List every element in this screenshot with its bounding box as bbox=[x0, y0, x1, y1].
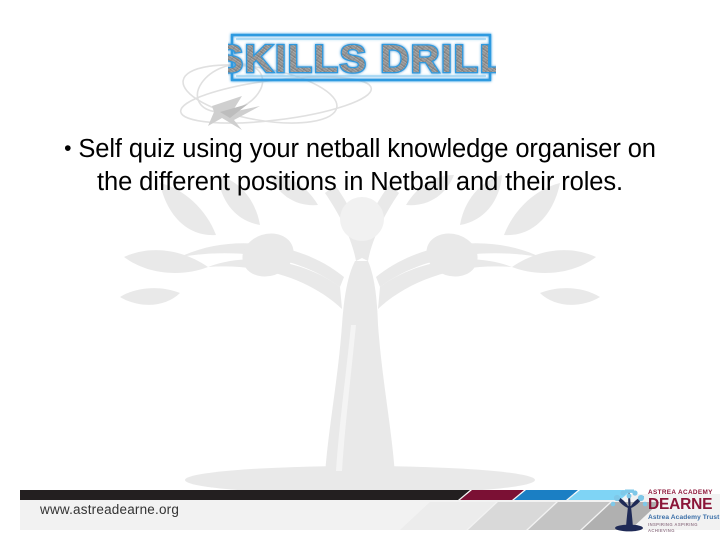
slide-canvas: SKILLS DRILL • Self quiz using your netb… bbox=[0, 0, 720, 540]
page-title: SKILLS DRILL bbox=[228, 30, 496, 86]
body-paragraph: • Self quiz using your netball knowledge… bbox=[55, 132, 665, 199]
footer-dark-bar bbox=[20, 490, 470, 500]
footer-accent-blue bbox=[514, 490, 578, 500]
footer-accent-maroon bbox=[460, 490, 524, 500]
footer-url[interactable]: www.astreadearne.org bbox=[40, 502, 179, 517]
bullet-glyph: • bbox=[64, 137, 71, 160]
logo-line-trust: Astrea Academy Trust bbox=[648, 513, 720, 522]
body-text: Self quiz using your netball knowledge o… bbox=[78, 135, 656, 196]
logo-line-dearne: DEARNE bbox=[648, 497, 720, 513]
tree-watermark-icon bbox=[120, 175, 600, 490]
astrea-academy-dearne-logo: ASTREA ACADEMY DEARNE Astrea Academy Tru… bbox=[608, 486, 720, 534]
astrea-tree-logo-icon bbox=[608, 488, 650, 532]
logo-line-strapline: INSPIRING ASPIRING ACHIEVING bbox=[648, 522, 720, 534]
title-text: SKILLS DRILL bbox=[228, 37, 496, 81]
